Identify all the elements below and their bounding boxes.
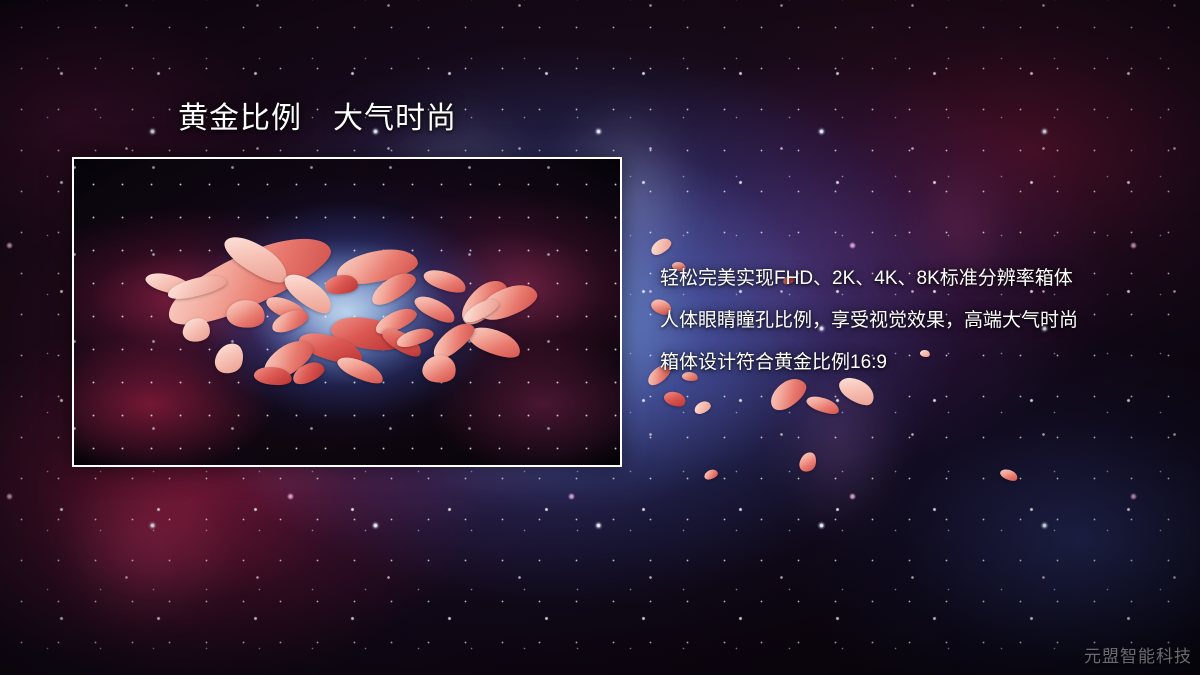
page-title: 黄金比例 大气时尚 <box>178 100 457 138</box>
description-line-1: 轻松完美实现FHD、2K、4K、8K标准分辨率箱体 <box>660 258 1150 300</box>
description-line-2: 人体眼睛瞳孔比例，享受视觉效果，高端大气时尚 <box>660 300 1150 342</box>
photo-starfield <box>74 159 620 465</box>
description-line-3: 箱体设计符合黄金比例16:9 <box>660 342 1150 384</box>
framed-photo[interactable] <box>72 157 622 467</box>
description-block: 轻松完美实现FHD、2K、4K、8K标准分辨率箱体 人体眼睛瞳孔比例，享受视觉效… <box>660 258 1150 384</box>
presentation-slide: 黄金比例 大气时尚 轻松完美实现FHD、2K、4K、8K标准分辨率箱体 人体眼睛… <box>0 0 1200 675</box>
brand-watermark: 元盟智能科技 <box>1084 642 1192 667</box>
